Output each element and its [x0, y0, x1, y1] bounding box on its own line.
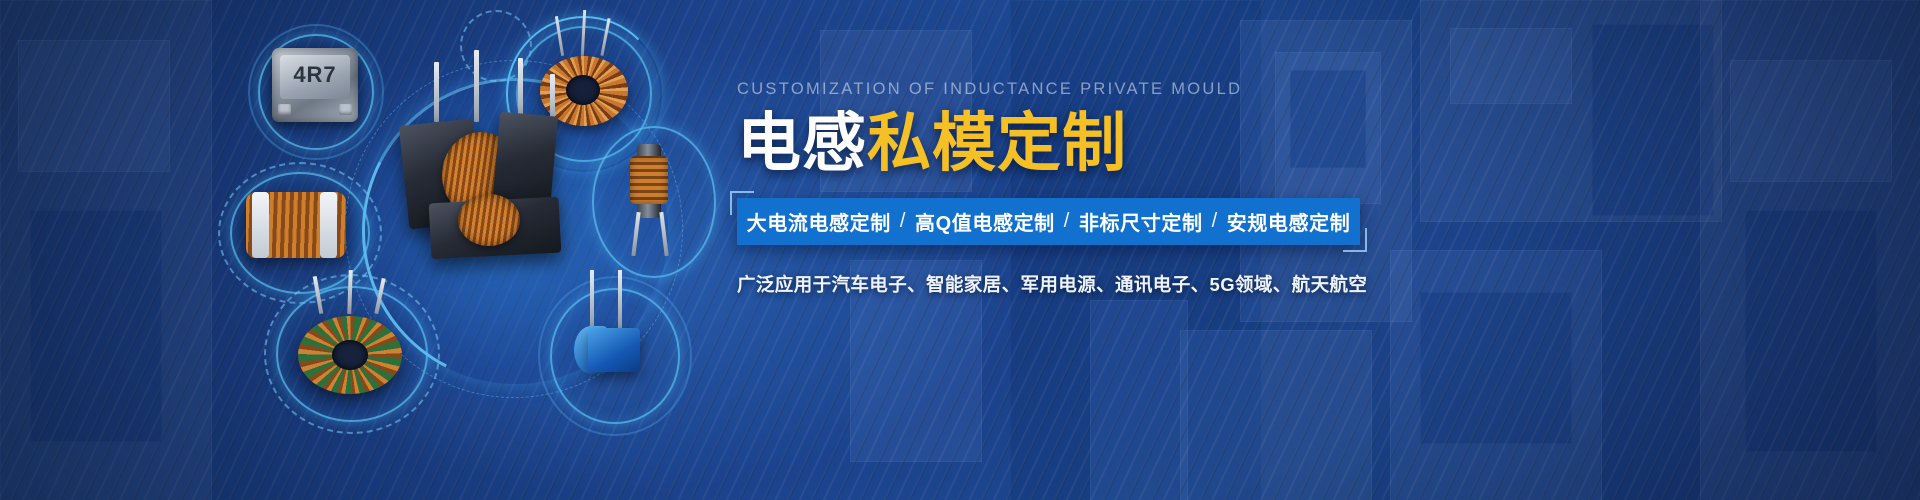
- product-cluster: 4R7: [210, 0, 740, 500]
- product-banner: 4R7: [0, 0, 1920, 500]
- stacked-common-mode-choke: [400, 108, 600, 268]
- feature-item-2: 高Q值电感定制: [915, 207, 1055, 236]
- feature-separator-2: /: [1055, 210, 1079, 233]
- feature-separator-1: /: [891, 210, 915, 233]
- feature-separator-3: /: [1203, 210, 1227, 233]
- eyebrow-english-subtitle: CUSTOMIZATION OF INDUCTANCE PRIVATE MOUL…: [737, 80, 1377, 99]
- flat-bobbin-coil: [242, 186, 352, 270]
- page-title: 电感私模定制: [737, 111, 1377, 176]
- feature-item-3: 非标尺寸定制: [1079, 207, 1203, 236]
- applications-text: 广泛应用于汽车电子、智能家居、军用电源、通讯电子、5G领域、航天航空: [737, 271, 1377, 297]
- smd-power-inductor: 4R7: [272, 48, 358, 122]
- headline-white-part: 电感: [737, 107, 867, 179]
- headline-gold-part: 私模定制: [867, 107, 1127, 179]
- feature-item-1: 大电流电感定制: [747, 207, 891, 236]
- banner-text-block: CUSTOMIZATION OF INDUCTANCE PRIVATE MOUL…: [737, 80, 1377, 297]
- drum-core-choke: [608, 140, 692, 258]
- blue-radial-inductor: [566, 300, 658, 410]
- feature-item-4: 安规电感定制: [1227, 207, 1351, 236]
- feature-bar: 大电流电感定制 / 高Q值电感定制 / 非标尺寸定制 / 安规电感定制: [737, 198, 1360, 245]
- smd-chip-code: 4R7: [272, 62, 358, 88]
- green-toroid-inductor: [290, 300, 410, 404]
